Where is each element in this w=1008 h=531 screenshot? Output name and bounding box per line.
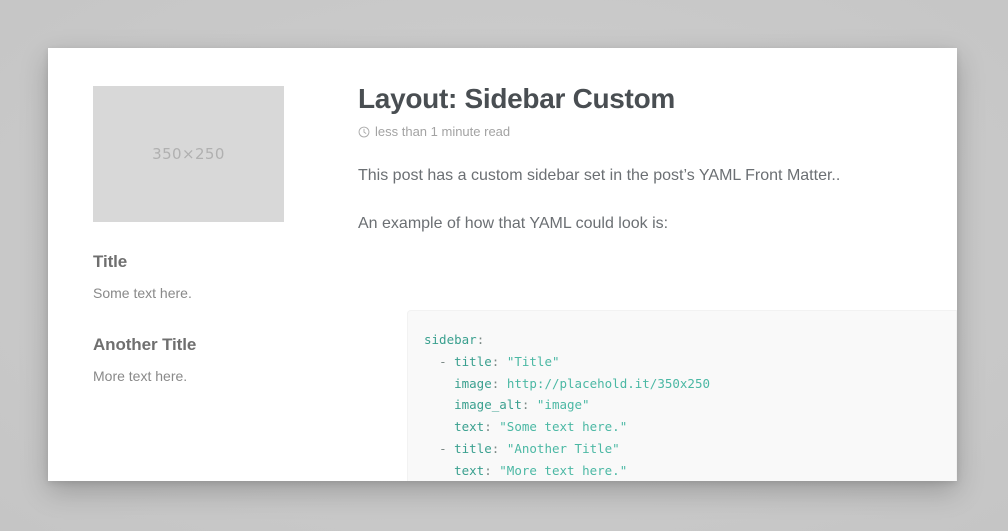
- post-main: Layout: Sidebar Custom less than 1 minut…: [358, 83, 957, 236]
- sidebar-image-dimensions-label: 350×250: [152, 145, 225, 163]
- sidebar-block: Title Some text here.: [93, 252, 284, 304]
- clock-icon: [358, 126, 370, 138]
- post-paragraph: This post has a custom sidebar set in th…: [358, 164, 957, 188]
- post-sidebar: 350×250 Title Some text here. Another Ti…: [93, 86, 293, 386]
- page-title: Layout: Sidebar Custom: [358, 83, 957, 115]
- yaml-code: sidebar: - title: "Title" image: http://…: [424, 332, 710, 478]
- code-block: sidebar: - title: "Title" image: http://…: [407, 310, 957, 481]
- sidebar-block-text: More text here.: [93, 367, 284, 387]
- sidebar-block-title: Another Title: [93, 335, 284, 355]
- sidebar-block-title: Title: [93, 252, 284, 272]
- post-paragraph: An example of how that YAML could look i…: [358, 212, 957, 236]
- sidebar-block-text: Some text here.: [93, 284, 284, 304]
- sidebar-block: Another Title More text here.: [93, 335, 284, 387]
- post-meta: less than 1 minute read: [358, 124, 957, 139]
- page-content: 350×250 Title Some text here. Another Ti…: [48, 48, 957, 481]
- page-card: 350×250 Title Some text here. Another Ti…: [48, 48, 957, 481]
- read-time-label: less than 1 minute read: [375, 124, 510, 139]
- sidebar-image-placeholder: 350×250: [93, 86, 284, 222]
- code-block-content: sidebar: - title: "Title" image: http://…: [407, 310, 957, 481]
